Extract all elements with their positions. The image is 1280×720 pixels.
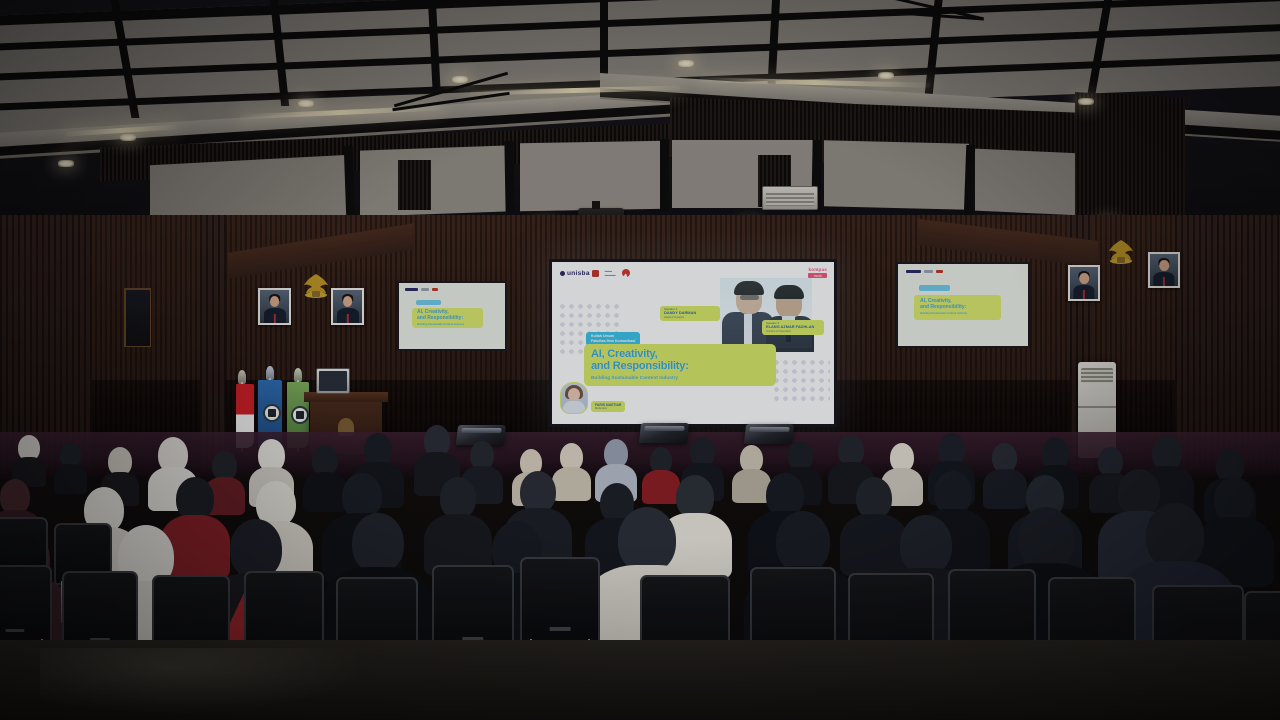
ceiling (0, 0, 1280, 230)
framed-wall-picture (124, 288, 151, 347)
ceiling-downlight (1078, 98, 1094, 105)
side-title-subtitle: Building Sustainable Content Industry (920, 312, 1001, 315)
moderator-block: FARIS MAETIAR Moderator (560, 382, 625, 414)
empty-chair[interactable] (520, 557, 600, 645)
slide-logo-row: unisba ▬▬▬▬▬ (560, 269, 630, 277)
side-screen-eyebrow-right (919, 285, 950, 291)
moderator-photo (560, 382, 588, 414)
side-screen-title-left: AI, Creativity, and Responsibility: Buil… (412, 308, 483, 328)
slide-badge-top-right: kompas muda (808, 267, 827, 278)
moderator-nametag: FARIS MAETIAR Moderator (591, 401, 625, 412)
vice-president-portrait-right (1148, 252, 1180, 288)
auditorium-photo: AI, Creativity, and Responsibility: Buil… (0, 0, 1280, 720)
speaker2-nametag: Speaker 2 ELANG AZMAR FADHLAN Content AI… (762, 320, 824, 335)
seminar-slide: unisba ▬▬▬▬▬ kompas muda (552, 262, 834, 424)
ceiling-ac-cassette (762, 186, 818, 210)
slide-title-line1: AI, Creativity, (591, 349, 769, 361)
floor-reflection (40, 648, 370, 714)
side-projection-screen-right: AI, Creativity, and Responsibility: Buil… (896, 262, 1030, 348)
ceiling-downlight (678, 60, 694, 67)
partner-logo: ▬▬▬▬▬ (605, 269, 616, 277)
unisba-mark (560, 271, 565, 276)
vice-president-portrait-left (331, 288, 364, 325)
eyebrow-line2: Fakultas Ilmu Komunikasi (591, 339, 635, 344)
side-projection-screen-left: AI, Creativity, and Responsibility: Buil… (397, 281, 507, 351)
side-title-line2: and Responsibility: (920, 305, 1001, 311)
ceiling-downlight (58, 160, 74, 167)
president-portrait-right (1068, 265, 1100, 301)
slide-subtitle: Building Sustainable Content Industry (591, 375, 769, 380)
slide-title-line2: and Responsibility: (591, 361, 769, 373)
empty-chair[interactable] (0, 565, 52, 645)
speaker1-org: Head of Creative (664, 316, 716, 319)
slide-title-block: AI, Creativity, and Responsibility: Buil… (584, 344, 776, 386)
badge-line1: kompas (808, 267, 827, 272)
red-swirl-logo (622, 269, 630, 277)
side-screen-eyebrow-left (416, 300, 441, 305)
garuda-pancasila-emblem-right (1104, 238, 1138, 268)
podium-confidence-monitor (316, 368, 350, 394)
speaker-photos (720, 278, 812, 348)
side-screen-title-right: AI, Creativity, and Responsibility: Buil… (914, 295, 1001, 320)
dot-pattern-right (772, 358, 830, 402)
speaker2-org: Content AI Specialist (766, 330, 820, 333)
side-title-subtitle: Building Sustainable Content Industry (417, 323, 483, 326)
side-title-line2: and Responsibility: (417, 316, 483, 322)
side-screen-logos-left (405, 288, 438, 291)
ceiling-downlight (120, 134, 136, 141)
garuda-pancasila-emblem (299, 272, 333, 302)
president-portrait-left (258, 288, 291, 325)
main-projection-screen: unisba ▬▬▬▬▬ kompas muda (549, 259, 837, 427)
speaker1-nametag: Speaker 1 DANDY DARMAN Head of Creative (660, 306, 720, 321)
ceiling-downlight (298, 100, 314, 107)
unisba-badge-icon (592, 270, 599, 277)
ceiling-downlight (452, 76, 468, 83)
ceiling-downlight (878, 72, 894, 79)
side-screen-logos-right (906, 270, 943, 273)
unisba-logo: unisba (560, 270, 599, 277)
moderator-role: Moderator (595, 407, 621, 410)
unisba-wordmark: unisba (567, 270, 590, 277)
